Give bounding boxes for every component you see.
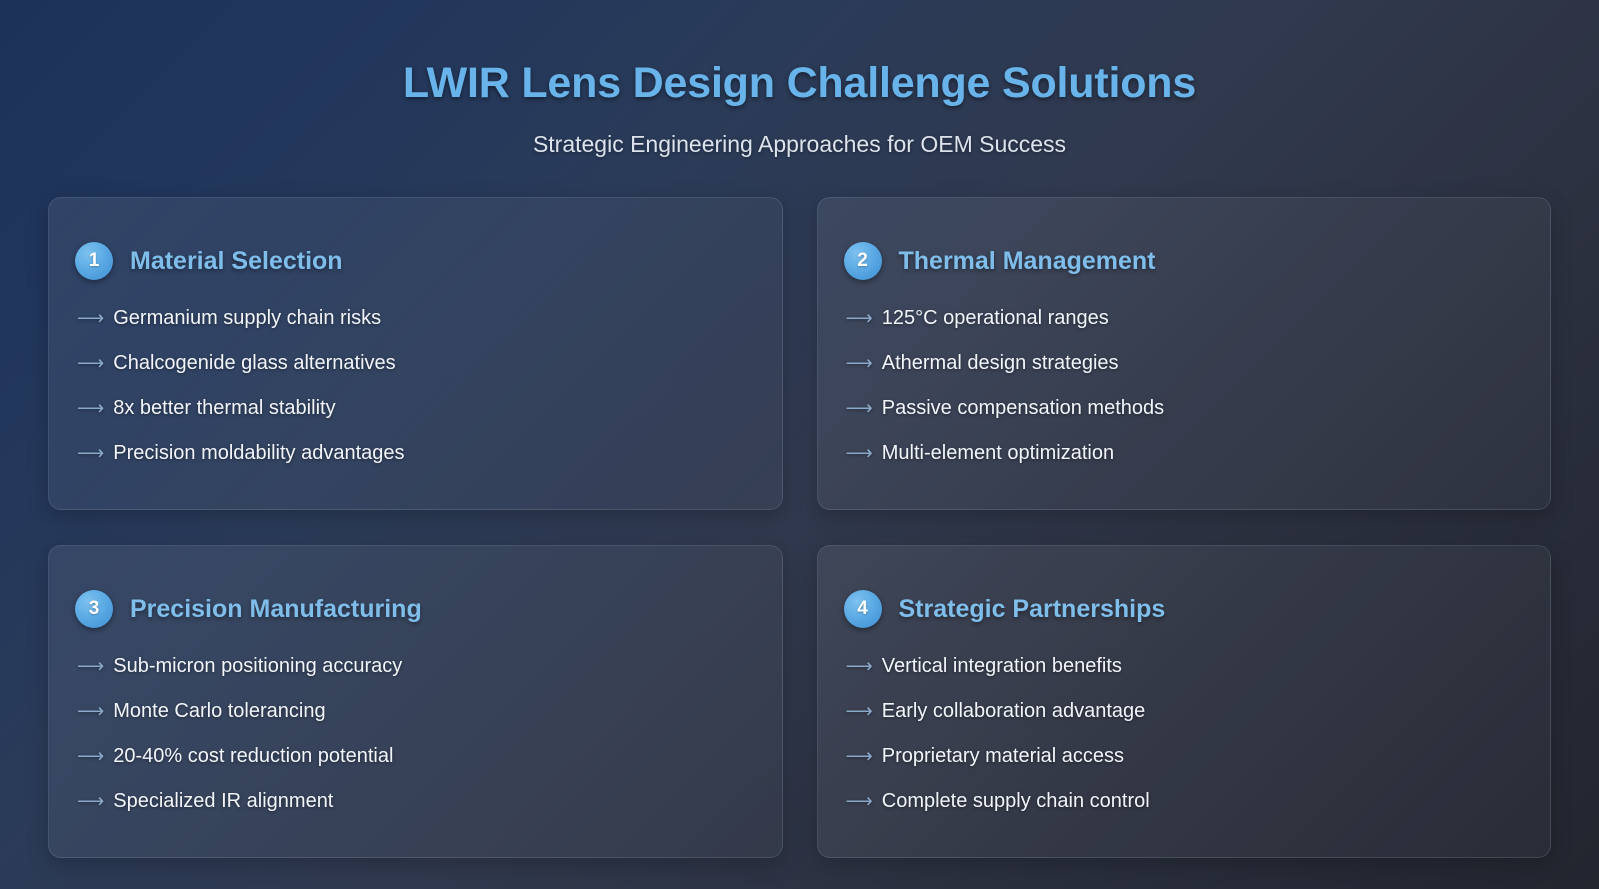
list-item: ⟶ Specialized IR alignment [77, 779, 742, 824]
card-number-badge: 2 [844, 242, 882, 280]
arrow-right-icon: ⟶ [77, 399, 103, 418]
list-item: ⟶ Germanium supply chain risks [77, 296, 742, 341]
list-item: ⟶ Sub-micron positioning accuracy [77, 644, 742, 689]
list-item: ⟶ Proprietary material access [846, 734, 1511, 779]
list-item-label: 8x better thermal stability [113, 396, 335, 421]
list-item-label: 125°C operational ranges [882, 306, 1109, 331]
list-item: ⟶ Monte Carlo tolerancing [77, 689, 742, 734]
list-item-label: Precision moldability advantages [113, 441, 404, 466]
list-item-label: Early collaboration advantage [882, 699, 1146, 724]
list-item: ⟶ Athermal design strategies [846, 341, 1511, 386]
list-item-label: Monte Carlo tolerancing [113, 699, 325, 724]
list-item: ⟶ 125°C operational ranges [846, 296, 1511, 341]
slide-root: LWIR Lens Design Challenge Solutions Str… [0, 0, 1599, 889]
card-bullet-list: ⟶ Germanium supply chain risks ⟶ Chalcog… [75, 296, 742, 476]
list-item-label: Proprietary material access [882, 744, 1124, 769]
card-header: 3 Precision Manufacturing [75, 590, 742, 628]
card-title: Strategic Partnerships [899, 595, 1166, 624]
card-title: Precision Manufacturing [130, 595, 422, 624]
solution-card-precision-manufacturing[interactable]: 3 Precision Manufacturing ⟶ Sub-micron p… [48, 545, 783, 858]
list-item: ⟶ Passive compensation methods [846, 386, 1511, 431]
arrow-right-icon: ⟶ [77, 444, 103, 463]
list-item-label: Athermal design strategies [882, 351, 1119, 376]
arrow-right-icon: ⟶ [846, 657, 872, 676]
list-item-label: Vertical integration benefits [882, 654, 1122, 679]
arrow-right-icon: ⟶ [846, 309, 872, 328]
arrow-right-icon: ⟶ [77, 792, 103, 811]
arrow-right-icon: ⟶ [846, 792, 872, 811]
page-title: LWIR Lens Design Challenge Solutions [48, 58, 1551, 110]
list-item: ⟶ Multi-element optimization [846, 431, 1511, 476]
card-number-badge: 1 [75, 242, 113, 280]
arrow-right-icon: ⟶ [77, 354, 103, 373]
list-item: ⟶ 20-40% cost reduction potential [77, 734, 742, 779]
card-title: Thermal Management [899, 247, 1156, 276]
arrow-right-icon: ⟶ [77, 657, 103, 676]
card-header: 2 Thermal Management [844, 242, 1511, 280]
solution-card-material-selection[interactable]: 1 Material Selection ⟶ Germanium supply … [48, 197, 783, 510]
card-number-badge: 3 [75, 590, 113, 628]
solution-card-grid: 1 Material Selection ⟶ Germanium supply … [48, 197, 1551, 858]
arrow-right-icon: ⟶ [846, 702, 872, 721]
list-item: ⟶ Vertical integration benefits [846, 644, 1511, 689]
arrow-right-icon: ⟶ [77, 747, 103, 766]
list-item-label: Chalcogenide glass alternatives [113, 351, 395, 376]
card-title: Material Selection [130, 247, 343, 276]
card-bullet-list: ⟶ Vertical integration benefits ⟶ Early … [844, 644, 1511, 824]
card-header: 1 Material Selection [75, 242, 742, 280]
list-item-label: Sub-micron positioning accuracy [113, 654, 402, 679]
card-bullet-list: ⟶ Sub-micron positioning accuracy ⟶ Mont… [75, 644, 742, 824]
solution-card-thermal-management[interactable]: 2 Thermal Management ⟶ 125°C operational… [817, 197, 1552, 510]
arrow-right-icon: ⟶ [846, 399, 872, 418]
slide-header: LWIR Lens Design Challenge Solutions Str… [48, 0, 1551, 159]
list-item: ⟶ Chalcogenide glass alternatives [77, 341, 742, 386]
list-item: ⟶ Early collaboration advantage [846, 689, 1511, 734]
arrow-right-icon: ⟶ [846, 747, 872, 766]
arrow-right-icon: ⟶ [846, 354, 872, 373]
list-item-label: Specialized IR alignment [113, 789, 333, 814]
card-bullet-list: ⟶ 125°C operational ranges ⟶ Athermal de… [844, 296, 1511, 476]
arrow-right-icon: ⟶ [77, 702, 103, 721]
card-number-badge: 4 [844, 590, 882, 628]
page-subtitle: Strategic Engineering Approaches for OEM… [48, 130, 1551, 160]
list-item: ⟶ Complete supply chain control [846, 779, 1511, 824]
arrow-right-icon: ⟶ [846, 444, 872, 463]
list-item-label: Passive compensation methods [882, 396, 1164, 421]
list-item: ⟶ Precision moldability advantages [77, 431, 742, 476]
list-item: ⟶ 8x better thermal stability [77, 386, 742, 431]
list-item-label: Germanium supply chain risks [113, 306, 381, 331]
list-item-label: 20-40% cost reduction potential [113, 744, 393, 769]
card-header: 4 Strategic Partnerships [844, 590, 1511, 628]
solution-card-strategic-partnerships[interactable]: 4 Strategic Partnerships ⟶ Vertical inte… [817, 545, 1552, 858]
list-item-label: Multi-element optimization [882, 441, 1114, 466]
arrow-right-icon: ⟶ [77, 309, 103, 328]
list-item-label: Complete supply chain control [882, 789, 1150, 814]
